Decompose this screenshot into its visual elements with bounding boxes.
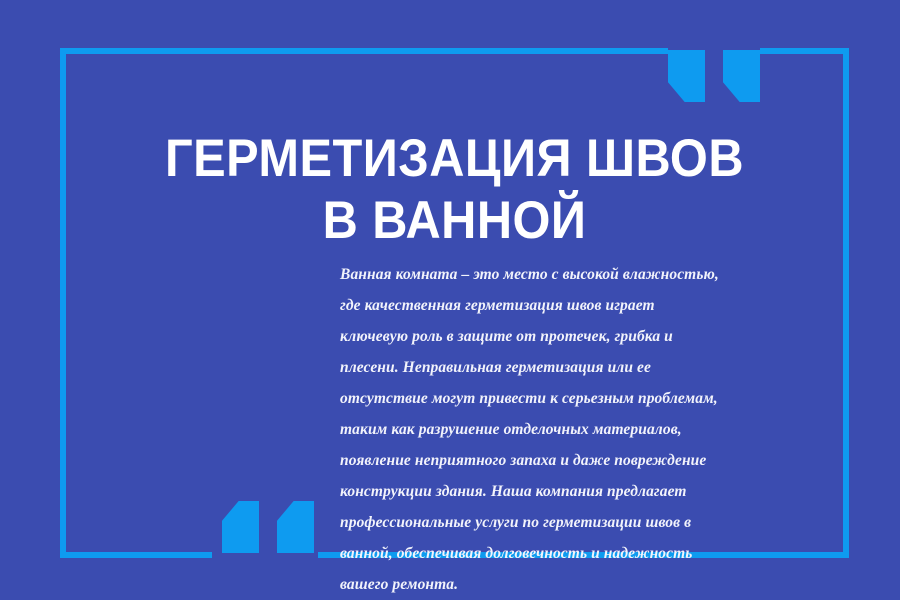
slide-canvas: ГЕРМЕТИЗАЦИЯ ШВОВ В ВАННОЙ Ванная комнат… <box>0 0 900 600</box>
quote-mark-icon <box>723 50 760 102</box>
frame-border-right <box>843 48 849 558</box>
frame-border-top-left <box>60 48 668 54</box>
frame-border-top-right <box>760 48 849 54</box>
body-paragraph: Ванная комната – это место с высокой вла… <box>340 259 720 600</box>
quote-mark-icon <box>668 50 705 102</box>
quote-mark-top-right-group <box>668 50 760 102</box>
quote-mark-icon <box>277 501 314 553</box>
quote-mark-icon <box>222 501 259 553</box>
quote-mark-bottom-left-group <box>222 501 314 553</box>
page-title: ГЕРМЕТИЗАЦИЯ ШВОВ В ВАННОЙ <box>92 128 818 252</box>
frame-border-bottom-left <box>60 552 212 558</box>
frame-border-left <box>60 48 66 558</box>
